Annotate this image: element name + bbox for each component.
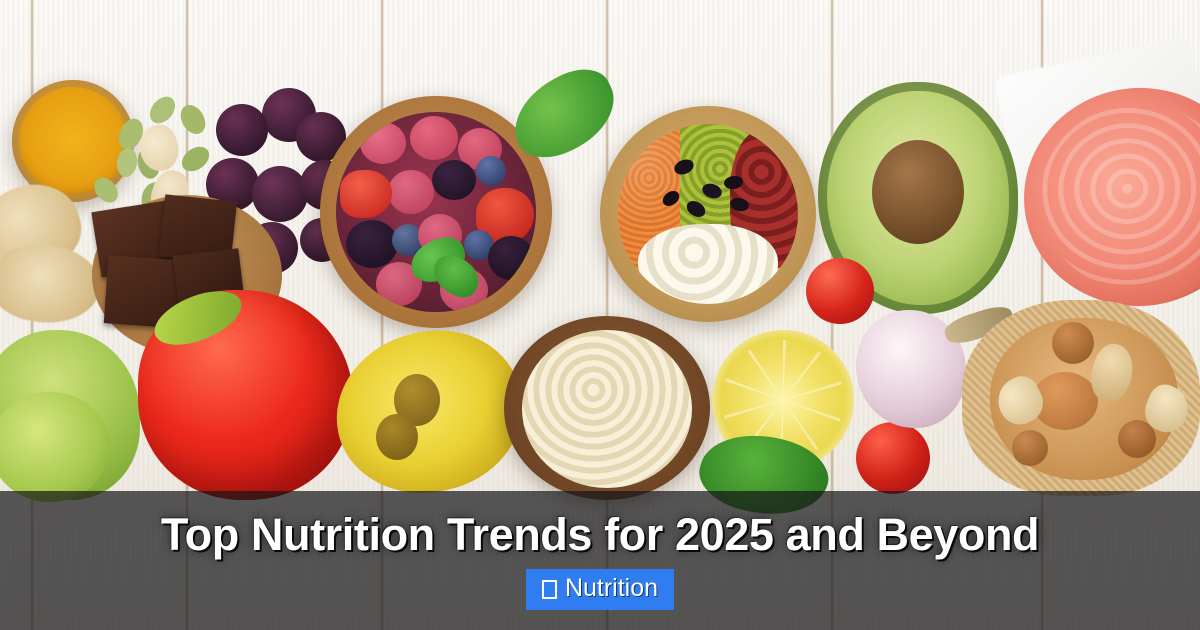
avocado-pit — [872, 140, 964, 244]
title-overlay: Top Nutrition Trends for 2025 and Beyond… — [0, 491, 1200, 630]
social-share-card: Top Nutrition Trends for 2025 and Beyond… — [0, 0, 1200, 630]
hazelnut — [1052, 322, 1094, 364]
missing-glyph-box-icon — [542, 580, 557, 599]
category-badge-label: Nutrition — [565, 576, 658, 601]
category-badge[interactable]: Nutrition — [526, 569, 674, 610]
raspberry — [410, 116, 458, 160]
blueberry — [476, 156, 506, 186]
blackberry — [346, 220, 398, 268]
page-title: Top Nutrition Trends for 2025 and Beyond — [161, 511, 1039, 559]
raspberry — [360, 122, 406, 164]
purple-grapes — [216, 104, 268, 156]
blackberry — [432, 160, 476, 200]
raspberry — [388, 170, 434, 214]
cherry-tomato — [856, 422, 930, 494]
berries-bowl-contents — [336, 112, 536, 312]
green-olives — [376, 414, 418, 460]
legumes-bowl-contents — [618, 124, 798, 304]
strawberry — [340, 170, 392, 218]
white-beans — [638, 224, 778, 304]
hazelnut — [1012, 430, 1048, 466]
cherry-tomato — [806, 258, 874, 324]
blackberry — [488, 236, 534, 280]
oats-contents — [522, 330, 692, 488]
hazelnut — [1118, 420, 1156, 458]
purple-grapes — [252, 166, 308, 222]
